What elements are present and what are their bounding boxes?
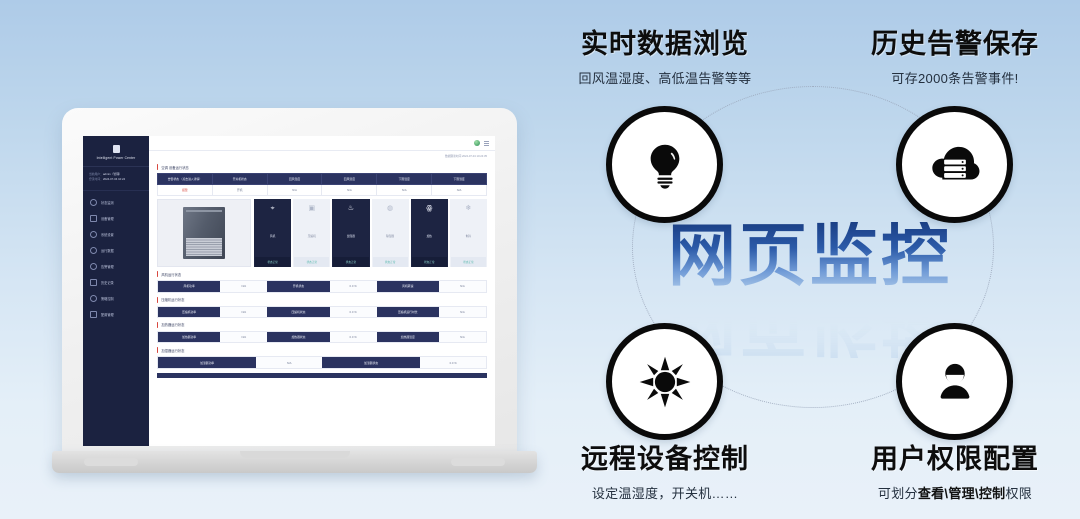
component-card-compressor[interactable]: ▣ 压缩机 状态正常 [293,199,330,267]
card-status: 状态正常 [412,257,447,267]
col-low-humidity: 下限湿度 [432,174,487,185]
feature-subtitle: 可划分查看\管理\控制权限 [825,483,1080,502]
kv-key: 加热器温度 [377,332,439,342]
card-status: 状态正常 [451,257,486,267]
card-label: 风机 [270,234,275,238]
kv-key: 风机功率 [158,281,220,291]
cell-low-humidity: N/A [432,185,487,196]
subtitle-part-prefix: 可划分 [878,486,918,501]
col-alarm-state: 告警状态 （点击进入详情） [158,174,213,185]
laptop-foot-left [84,458,138,466]
section-title-fan: 风机运行状态 [157,271,487,277]
component-card-humidifier[interactable]: ♨ 加湿器 状态正常 [332,199,369,267]
card-label: 压缩机 [308,234,316,238]
menu-icon[interactable] [484,141,489,146]
feature-title: 实时数据浏览 [535,22,795,61]
sidebar-item-config[interactable]: 配置管理 [83,307,149,323]
section-title-heater: 加热器运行状态 [157,322,487,328]
dashboard-sidebar: Intelligent Power Center 当前用户：admin（管理） … [83,136,149,446]
brand-name: Intelligent Power Center [83,156,149,160]
col-return-temp: 回风温度 [267,174,322,185]
server-logo-icon [113,145,120,153]
bell-icon [90,263,97,270]
sidebar-brand: Intelligent Power Center [83,140,149,167]
kv-key: 加湿器状态 [322,357,420,367]
section-title-humidifier: 加湿器运行状态 [157,347,487,353]
cell-low-temp: N/A [377,185,432,196]
col-power-state: 开关机状态 [212,174,267,185]
feature-icon-bubble-realtime[interactable] [606,106,723,223]
feature-title: 用户权限配置 [825,437,1080,476]
component-card-fan[interactable]: ⌖ 风机 状态正常 [254,199,291,267]
sidebar-item-policy[interactable]: 策略控制 [83,291,149,307]
meta-login-time: 登录时间：2024-07-04 10:24 [89,177,143,182]
sidebar-item-label: 运行数据 [101,248,114,253]
heater-icon: ꙮ [426,205,432,212]
fan-icon: ⌖ [271,205,275,212]
card-status: 状态正常 [373,257,408,267]
laptop-lid: Intelligent Power Center 当前用户：admin（管理） … [62,108,517,456]
card-status: 状态正常 [333,257,368,267]
card-label: 加湿器 [347,234,355,238]
sidebar-item-status[interactable]: 状态监测 [83,195,149,211]
card-status: 状态正常 [255,257,290,267]
dashboard-topbar [149,136,495,151]
feature-panel: 网页监控 网页监控 实时数据浏览 回风温湿度、高低温告警等等 历史告警保存 可存… [540,0,1080,519]
air-conditioner-unit-image [157,199,251,267]
refresh-icon [90,295,97,302]
sidebar-item-history[interactable]: 历史记录 [83,275,149,291]
chart-icon [90,247,97,254]
feature-realtime-data: 实时数据浏览 回风温湿度、高低温告警等等 [535,22,795,87]
component-card-cooling[interactable]: ❄ 制冷 状态正常 [450,199,487,267]
dashboard-body: 空调 设备运行状态 告警状态 （点击进入详情） 开关机状态 回风温度 回风湿度 … [149,160,495,384]
cell-return-temp: N/A [267,185,322,196]
feature-title: 远程设备控制 [535,437,795,476]
kv-key: 加热器功率 [158,332,220,342]
ac-status-table: 告警状态 （点击进入详情） 开关机状态 回风温度 回风湿度 下限温度 下限湿度 … [157,173,487,196]
table-row[interactable]: 报警 开机 N/A N/A N/A N/A [158,185,487,196]
humidifier-status-row: 加湿器功率 N/A 加湿器状态 0.0 % [157,356,487,368]
kv-key: 压缩机功率 [158,307,220,317]
kv-value: 0.0 % [330,332,377,342]
kv-value: N/A [439,307,486,317]
sidebar-item-device[interactable]: 设备管理 [83,211,149,227]
feature-icon-bubble-history[interactable] [896,106,1013,223]
fan-status-row: 风机功率 N/A 开机状态 0.0 % 风机转速 N/A [157,280,487,292]
list-icon [90,279,97,286]
user-icon [928,355,982,409]
dashboard-app: Intelligent Power Center 当前用户：admin（管理） … [83,136,495,446]
sidebar-item-label: 状态监测 [101,200,114,205]
lock-icon [90,311,97,318]
feature-icon-bubble-permission[interactable] [896,323,1013,440]
col-low-temp: 下限温度 [377,174,432,185]
sidebar-item-label: 设备管理 [101,216,114,221]
kv-value: N/A [220,332,267,342]
kv-key: 开机状态 [267,281,329,291]
subtitle-part-emphasis: 查看\管理\控制 [918,486,1006,501]
kv-value: N/A [256,357,322,367]
gauge-icon [90,199,97,206]
sidebar-item-label: 系统设置 [101,232,114,237]
sidebar-item-label: 告警管理 [101,264,114,269]
refresh-timestamp: 数据刷新时间 2024-07-04 10:24:35 [149,151,495,160]
lightbulb-icon [638,138,692,192]
sidebar-item-alarm[interactable]: 告警管理 [83,259,149,275]
kv-value: 0.0 % [330,307,377,317]
kv-value: N/A [220,281,267,291]
kv-key: 加湿器功率 [158,357,256,367]
kv-key: 风机转速 [377,281,439,291]
feature-history-alarm: 历史告警保存 可存2000条告警事件! [825,22,1080,87]
laptop-mockup: Intelligent Power Center 当前用户：admin（管理） … [52,108,537,468]
section-title-ac: 空调 设备运行状态 [157,164,487,170]
device-overview-row: ⌖ 风机 状态正常 ▣ 压缩机 状态正常 [157,199,487,267]
laptop-base [52,451,537,473]
kv-value: N/A [439,281,486,291]
kv-key: 加热器状态 [267,332,329,342]
section-title-compressor: 压缩机运行状态 [157,297,487,303]
laptop-foot-right [451,458,505,466]
subtitle-part-suffix: 权限 [1005,486,1032,501]
feature-remote-control: 远程设备控制 设定温湿度，开关机…… [535,437,795,502]
globe-avatar-icon[interactable] [474,140,480,146]
bottom-bar [157,373,487,378]
kv-key: 压缩机状态 [267,307,329,317]
card-status: 状态正常 [294,257,329,267]
sidebar-item-settings[interactable]: 系统设置 [83,227,149,243]
feature-user-permission: 用户权限配置 可划分查看\管理\控制权限 [825,437,1080,502]
sidebar-nav: 状态监测 设备管理 系统设置 运行数据 告警管理 历史记录 策略控制 配置管理 [83,191,149,327]
compressor-status-row: 压缩机功率 N/A 压缩机状态 0.0 % 压缩机运行时长 N/A [157,306,487,318]
feature-title: 历史告警保存 [825,22,1080,61]
device-icon [90,215,97,222]
laptop-screen: Intelligent Power Center 当前用户：admin（管理） … [83,136,495,446]
cooling-icon: ❄ [466,205,472,212]
cell-alarm-state[interactable]: 报警 [158,185,213,196]
dashboard-content: 数据刷新时间 2024-07-04 10:24:35 空调 设备运行状态 告警状… [149,136,495,446]
kv-value: 0.0 % [330,281,377,291]
card-label: 加热 [427,234,432,238]
compressor-icon: ▣ [308,205,315,212]
humidifier-icon: ♨ [348,205,354,212]
gear-icon [90,231,97,238]
poster-stage: Intelligent Power Center 当前用户：admin（管理） … [0,0,1080,519]
card-label: 除湿器 [386,234,394,238]
component-card-list: ⌖ 风机 状态正常 ▣ 压缩机 状态正常 [254,199,487,267]
col-return-humidity: 回风湿度 [322,174,377,185]
sidebar-item-label: 配置管理 [101,312,114,317]
cell-power-state: 开机 [212,185,267,196]
table-header-row: 告警状态 （点击进入详情） 开关机状态 回风温度 回风湿度 下限温度 下限湿度 [158,174,487,185]
component-card-heater[interactable]: ꙮ 加热 状态正常 [411,199,448,267]
feature-icon-bubble-remote[interactable] [606,323,723,440]
kv-key: 压缩机运行时长 [377,307,439,317]
sun-icon [638,355,692,409]
heater-status-row: 加热器功率 N/A 加热器状态 0.0 % 加热器温度 N/A [157,331,487,343]
kv-value: N/A [439,332,486,342]
sidebar-meta: 当前用户：admin（管理） 登录时间：2024-07-04 10:24 [83,167,149,191]
cell-return-humidity: N/A [322,185,377,196]
feature-subtitle: 回风温湿度、高低温告警等等 [535,68,795,87]
sidebar-item-label: 历史记录 [101,280,114,285]
component-card-dehumidifier[interactable]: ◍ 除湿器 状态正常 [372,199,409,267]
sidebar-item-label: 策略控制 [101,296,114,301]
card-label: 制冷 [466,234,471,238]
feature-subtitle: 可存2000条告警事件! [825,68,1080,87]
kv-value: 0.0 % [420,357,486,367]
sidebar-item-runtime-data[interactable]: 运行数据 [83,243,149,259]
kv-value: N/A [220,307,267,317]
wordmark-title: 网页监控 [540,222,1080,290]
dehumidifier-icon: ◍ [387,205,393,212]
cloud-database-icon [926,136,984,194]
feature-subtitle: 设定温湿度，开关机…… [535,483,795,502]
